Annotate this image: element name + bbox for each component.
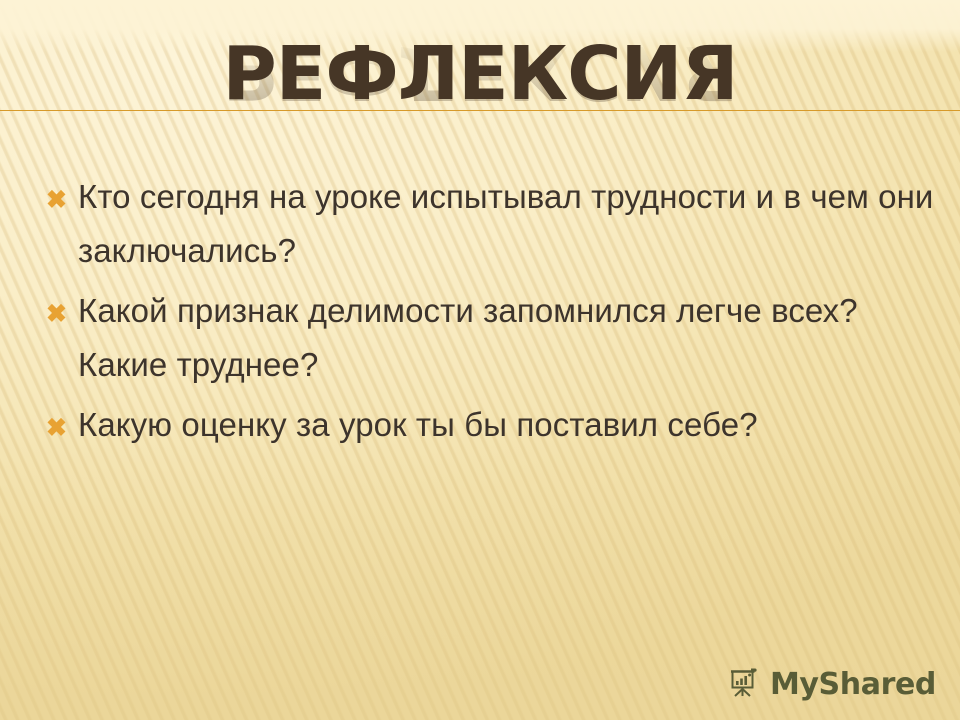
list-item-text: Кто сегодня на уроке испытывал трудности… <box>78 178 933 269</box>
slide-title: РЕФЛЕКСИЯ <box>0 34 960 114</box>
bullet-list: ✖ Кто сегодня на уроке испытывал труднос… <box>46 170 946 458</box>
myshared-wordmark: MyShared <box>770 670 936 700</box>
presentation-chart-icon <box>727 665 761 704</box>
list-item: ✖ Какой признак делимости запомнился лег… <box>46 284 946 392</box>
cross-bullet-icon: ✖ <box>46 287 67 341</box>
list-item-text: Какой признак делимости запомнился легче… <box>78 292 858 383</box>
slide-canvas: РЕФЛЕКСИЯ РЕФЛЕКСИЯ ✖ Кто сегодня на уро… <box>0 0 960 720</box>
list-item-text: Какую оценку за урок ты бы поставил себе… <box>78 406 758 443</box>
cross-bullet-icon: ✖ <box>46 401 67 455</box>
myshared-watermark: MyShared <box>727 665 936 704</box>
slide-title-block: РЕФЛЕКСИЯ РЕФЛЕКСИЯ <box>0 34 960 164</box>
list-item: ✖ Какую оценку за урок ты бы поставил се… <box>46 398 946 452</box>
cross-bullet-icon: ✖ <box>46 173 67 227</box>
list-item: ✖ Кто сегодня на уроке испытывал труднос… <box>46 170 946 278</box>
